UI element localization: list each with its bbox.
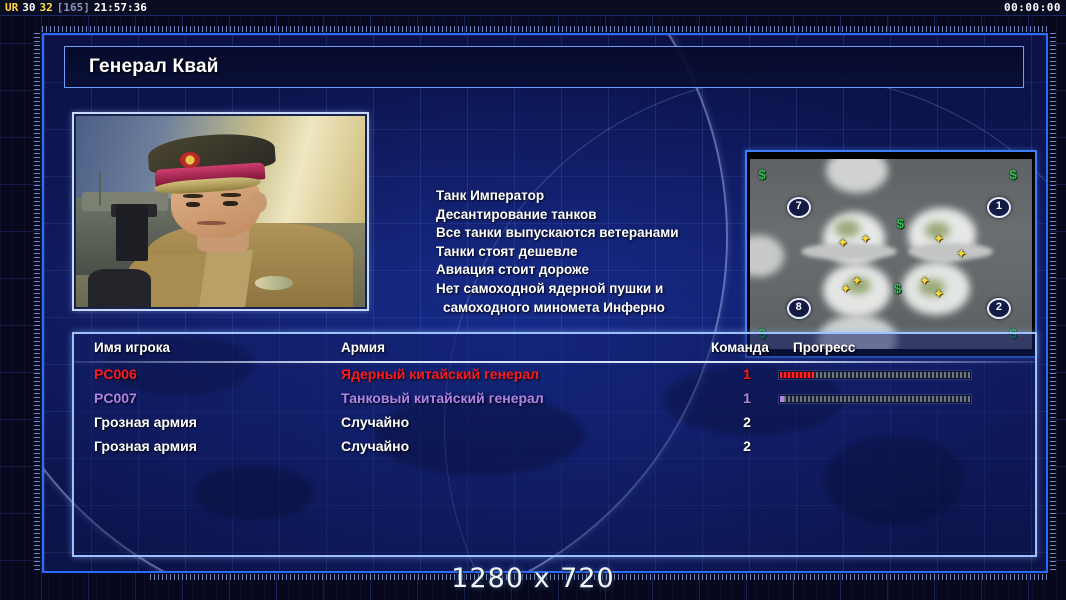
ability-item: Нет самоходной ядерной пушки и [436,280,736,299]
player-army: Танковый китайский генерал [341,390,544,406]
portrait-ear [249,192,266,213]
match-timer: 00:00:00 [1004,0,1061,15]
portrait-brow-right [221,193,241,197]
table-row[interactable]: PC006 Ядерный китайский генерал 1 [74,366,1035,390]
ability-item: Десантирование танков [436,206,736,225]
column-header-name: Имя игрока [94,340,170,355]
player-name: Грозная армия [94,414,197,430]
minimap-start-position: 8 [787,298,811,319]
tech-building-icon: ✦ [837,235,848,251]
tech-building-icon: ✦ [919,273,930,289]
player-progress-bar [778,394,972,404]
player-team: 1 [727,390,767,406]
player-name: PC006 [94,366,137,382]
general-title-bar: Генерал Квай [64,46,1024,88]
status-value-b: 32 [38,1,55,14]
player-team: 2 [727,438,767,454]
portrait-uniform-badge-icon [255,276,293,289]
supply-dock-icon: $ [1009,167,1016,182]
portrait-cap-insignia-icon [180,152,200,167]
terrain-patch [908,243,993,260]
resolution-label: 1280 x 720 [0,563,1066,594]
general-abilities-list: Танк Император Десантирование танков Все… [436,187,736,317]
player-army: Случайно [341,438,409,454]
supply-dock-icon: $ [894,281,901,296]
column-header-team: Команда [711,340,769,355]
minimap-start-position: 1 [987,197,1011,218]
ability-item: Все танки выпускаются ветеранами [436,224,736,243]
start-position-label: 7 [796,200,802,212]
table-row[interactable]: Грозная армия Случайно 2 [74,438,1035,462]
progress-fill [780,372,813,378]
minimap-start-position: 7 [787,197,811,218]
portrait-eye-left [186,202,200,207]
player-progress-bar [778,370,972,380]
status-label: UR [3,1,20,14]
players-panel: Имя игрока Армия Команда Прогресс PC006 … [72,332,1037,557]
portrait-eye-right [223,201,237,206]
status-value-a: 30 [20,1,37,14]
portrait-lapel [199,250,253,307]
portrait-pistol-grip [116,204,148,261]
header-divider [74,361,1035,363]
supply-dock-icon: $ [758,167,765,182]
table-row[interactable]: Грозная армия Случайно 2 [74,414,1035,438]
ability-item: Танк Император [436,187,736,206]
desktop-background: UR3032[165]21:57:36 00:00:00 Генерал Ква… [0,0,1066,600]
general-portrait-frame [72,112,369,311]
terrain-patch [750,235,784,277]
start-position-label: 2 [996,301,1002,313]
terrain-patch [826,159,888,193]
player-army: Ядерный китайский генерал [341,366,539,382]
tech-building-icon: ✦ [956,246,967,262]
general-portrait [76,116,365,307]
player-name: PC007 [94,390,137,406]
minimap-terrain: 7 1 8 2 $ $ $ $ $ $ ✦ ✦ ✦ ✦ ✦ ✦ ✦ ✦ [750,159,1032,349]
start-position-label: 8 [796,301,802,313]
tech-building-icon: ✦ [933,286,944,302]
start-position-label: 1 [996,200,1002,212]
table-row[interactable]: PC007 Танковый китайский генерал 1 [74,390,1035,414]
progress-fill [780,396,784,402]
terrain-patch [801,243,897,260]
lobby-screen: Генерал Квай [42,33,1048,573]
player-team: 2 [727,414,767,430]
ruler-left [34,33,40,573]
status-clock: 21:57:36 [92,1,149,14]
player-army: Случайно [341,414,409,430]
player-team: 1 [727,366,767,382]
player-name: Грозная армия [94,438,197,454]
tech-building-icon: ✦ [852,273,863,289]
minimap-preview[interactable]: 7 1 8 2 $ $ $ $ $ $ ✦ ✦ ✦ ✦ ✦ ✦ ✦ ✦ [745,150,1037,358]
portrait-hand [88,269,152,307]
progress-track [780,396,970,402]
tech-building-icon: ✦ [933,231,944,247]
ruler-right [1050,33,1056,573]
column-header-army: Армия [341,340,385,355]
ability-item: самоходного миномета Инферно [436,299,736,318]
tech-building-icon: ✦ [840,281,851,297]
status-bar: UR3032[165]21:57:36 00:00:00 [0,0,1066,16]
column-header-progress: Прогресс [793,340,855,355]
tech-building-icon: ✦ [860,231,871,247]
ability-item: Авиация стоит дороже [436,261,736,280]
supply-dock-icon: $ [897,216,904,231]
status-readout: UR3032[165]21:57:36 [3,0,149,15]
ability-item: Танки стоят дешевле [436,243,736,262]
minimap-start-position: 2 [987,298,1011,319]
portrait-mouth [197,221,226,225]
table-header-row: Имя игрока Армия Команда Прогресс [74,340,1035,362]
page-title: Генерал Квай [89,56,219,78]
portrait-brow-left [183,194,203,198]
portrait-antenna [99,171,101,205]
ruler-top [42,26,1048,32]
status-value-c: [165] [55,1,92,14]
